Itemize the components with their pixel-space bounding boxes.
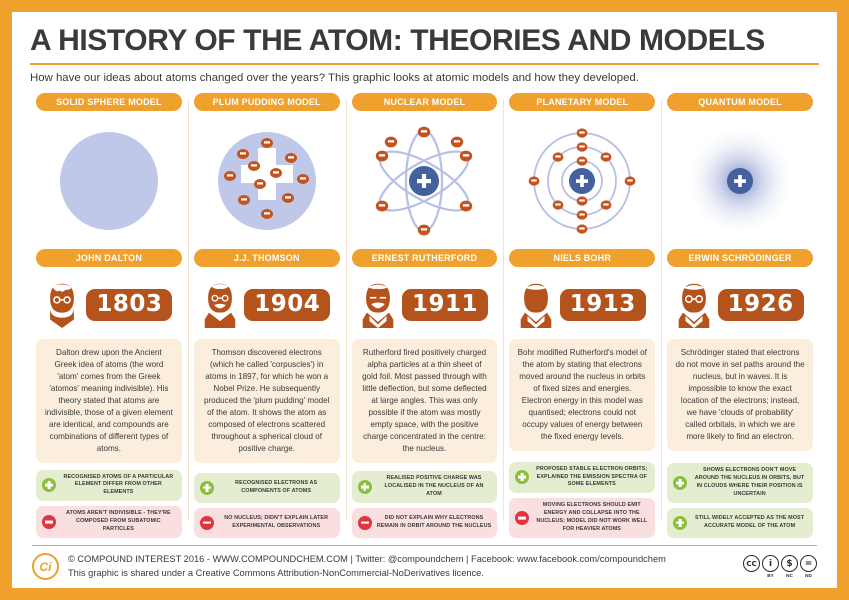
con-note-rutherford: DID NOT EXPLAIN WHY ELECTRONS REMAIN IN …: [352, 508, 498, 538]
column-plum-pudding: PLUM PUDDING MODEL: [188, 93, 346, 543]
description-thomson: Thomson discovered electrons (which he c…: [194, 339, 340, 463]
poster-inner: A HISTORY OF THE ATOM: THEORIES AND MODE…: [12, 12, 837, 588]
plum-pudding-diagram: [192, 123, 342, 243]
pro-note-rutherford: REALISED POSITIVE CHARGE WAS LOCALISED I…: [352, 471, 498, 502]
cc-label: ND: [800, 573, 817, 578]
solid-sphere-diagram: [34, 123, 184, 243]
person-badge-thomson: J.J. THOMSON: [194, 249, 340, 267]
page-title: A HISTORY OF THE ATOM: THEORIES AND MODE…: [30, 26, 819, 63]
rutherford-portrait-icon: [361, 282, 395, 328]
quantum-cloud-diagram: [665, 123, 815, 243]
cc-by-icon: i: [762, 555, 779, 572]
thomson-portrait-icon: [203, 282, 237, 328]
con-note-text: ATOMS AREN'T INDIVISIBLE - THEY'RE COMPO…: [61, 510, 176, 533]
year-badge-1911: 1911: [402, 289, 488, 321]
scientist-row-dalton: 1803: [34, 277, 184, 333]
pro-note-schrodinger-2: STILL WIDELY ACCEPTED AS THE MOST ACCURA…: [667, 508, 813, 538]
cc-logo-icon: CC: [743, 555, 760, 572]
pro-note-text: PROPOSED STABLE ELECTRON ORBITS; EXPLAIN…: [534, 466, 649, 489]
model-badge-plum-pudding: PLUM PUDDING MODEL: [194, 93, 340, 111]
plus-icon: [673, 476, 687, 490]
cc-nd-icon: =: [800, 555, 817, 572]
footer-text: © COMPOUND INTEREST 2016 - WWW.COMPOUNDC…: [68, 553, 734, 580]
con-note-dalton: ATOMS AREN'T INDIVISIBLE - THEY'RE COMPO…: [36, 506, 182, 537]
pro-note-bohr: PROPOSED STABLE ELECTRON ORBITS; EXPLAIN…: [509, 462, 655, 493]
model-badge-planetary: PLANETARY MODEL: [509, 93, 655, 111]
plus-icon: [673, 516, 687, 530]
pro-note-text: STILL WIDELY ACCEPTED AS THE MOST ACCURA…: [692, 515, 807, 531]
plus-icon: [515, 470, 529, 484]
con-note-text: DID NOT EXPLAIN WHY ELECTRONS REMAIN IN …: [377, 515, 492, 531]
con-note-thomson: NO NUCLEUS; DIDN'T EXPLAIN LATER EXPERIM…: [194, 508, 340, 538]
description-bohr: Bohr modified Rutherford's model of the …: [509, 339, 655, 451]
compound-interest-logo: Ci: [32, 553, 59, 580]
plus-icon: [358, 480, 372, 494]
footer: Ci © COMPOUND INTEREST 2016 - WWW.COMPOU…: [30, 553, 819, 588]
footer-divider: [32, 545, 817, 547]
minus-icon: [42, 515, 56, 529]
column-quantum: QUANTUM MODEL: [661, 93, 819, 543]
cc-label: NC: [781, 573, 798, 578]
model-badge-quantum: QUANTUM MODEL: [667, 93, 813, 111]
planetary-diagram: [507, 123, 657, 243]
pro-note-text: RECOGNISED ELECTRONS AS COMPONENTS OF AT…: [219, 480, 334, 496]
column-solid-sphere: SOLID SPHERE MODEL JOHN DALTON: [30, 93, 188, 543]
model-badge-nuclear: NUCLEAR MODEL: [352, 93, 498, 111]
cc-nc-icon: $: [781, 555, 798, 572]
title-divider: [30, 63, 819, 65]
scientist-row-schrodinger: 1926: [665, 277, 815, 333]
con-note-bohr: MOVING ELECTRONS SHOULD EMIT ENERGY AND …: [509, 498, 655, 537]
cc-icon-item: i BY: [762, 555, 779, 578]
year-badge-1913: 1913: [560, 289, 646, 321]
schrodinger-portrait-icon: [677, 282, 711, 328]
pro-note-text: REALISED POSITIVE CHARGE WAS LOCALISED I…: [377, 475, 492, 498]
nuclear-diagram: [350, 123, 500, 243]
footer-credit-line: © COMPOUND INTEREST 2016 - WWW.COMPOUNDC…: [68, 553, 734, 566]
pro-note-schrodinger-1: SHOWS ELECTRONS DON'T MOVE AROUND THE NU…: [667, 463, 813, 502]
creative-commons-icons: CC i BY $ NC = ND: [743, 555, 817, 578]
scientist-row-thomson: 1904: [192, 277, 342, 333]
con-note-text: NO NUCLEUS; DIDN'T EXPLAIN LATER EXPERIM…: [219, 515, 334, 531]
minus-icon: [515, 511, 529, 525]
year-badge-1926: 1926: [718, 289, 804, 321]
pro-note-text: SHOWS ELECTRONS DON'T MOVE AROUND THE NU…: [692, 467, 807, 498]
pro-note-text: RECOGNISED ATOMS OF A PARTICULAR ELEMENT…: [61, 474, 176, 497]
cc-label: BY: [762, 573, 779, 578]
plus-icon: [42, 478, 56, 492]
plus-icon: [200, 481, 214, 495]
description-schrodinger: Schrödinger stated that electrons do not…: [667, 339, 813, 451]
column-nuclear: NUCLEAR MODEL: [346, 93, 504, 543]
cc-icon-item: CC: [743, 555, 760, 578]
model-badge-solid-sphere: SOLID SPHERE MODEL: [36, 93, 182, 111]
page-subtitle: How have our ideas about atoms changed o…: [30, 72, 819, 93]
minus-icon: [200, 516, 214, 530]
pro-note-dalton: RECOGNISED ATOMS OF A PARTICULAR ELEMENT…: [36, 470, 182, 501]
column-planetary: PLANETARY MODEL: [503, 93, 661, 543]
description-dalton: Dalton drew upon the Ancient Greek idea …: [36, 339, 182, 463]
model-columns: SOLID SPHERE MODEL JOHN DALTON: [30, 93, 819, 543]
minus-icon: [358, 516, 372, 530]
person-badge-bohr: NIELS BOHR: [509, 249, 655, 267]
con-note-text: MOVING ELECTRONS SHOULD EMIT ENERGY AND …: [534, 502, 649, 533]
person-badge-rutherford: ERNEST RUTHERFORD: [352, 249, 498, 267]
infographic-poster: A HISTORY OF THE ATOM: THEORIES AND MODE…: [0, 0, 849, 600]
pro-note-thomson: RECOGNISED ELECTRONS AS COMPONENTS OF AT…: [194, 473, 340, 503]
description-rutherford: Rutherford fired positively charged alph…: [352, 339, 498, 463]
dalton-portrait-icon: [45, 282, 79, 328]
cc-icon-item: $ NC: [781, 555, 798, 578]
year-badge-1904: 1904: [244, 289, 330, 321]
scientist-row-rutherford: 1911: [350, 277, 500, 333]
year-badge-1803: 1803: [86, 289, 172, 321]
footer-licence-line: This graphic is shared under a Creative …: [68, 567, 734, 580]
person-badge-schrodinger: ERWIN SCHRÖDINGER: [667, 249, 813, 267]
bohr-portrait-icon: [519, 282, 553, 328]
person-badge-dalton: JOHN DALTON: [36, 249, 182, 267]
scientist-row-bohr: 1913: [507, 277, 657, 333]
cc-icon-item: = ND: [800, 555, 817, 578]
